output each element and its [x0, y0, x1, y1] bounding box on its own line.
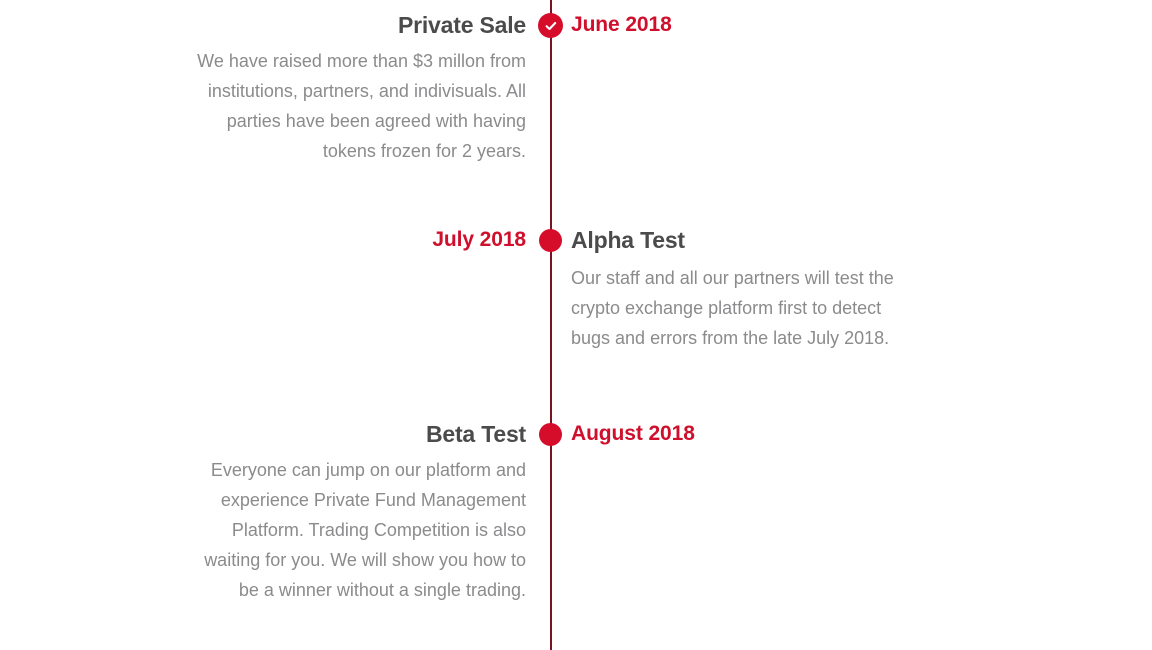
timeline-entry-alpha-test: July 2018 Alpha Test Our staff and all o… [0, 223, 1152, 259]
timeline-entry-date-wrap: August 2018 [571, 417, 903, 451]
timeline-entry-body-wrap: Our staff and all our partners will test… [571, 263, 903, 353]
dot-icon[interactable] [539, 229, 562, 252]
timeline-spine [550, 0, 552, 650]
timeline-entry-header: July 2018 Alpha Test [0, 223, 1152, 259]
check-circle-icon[interactable] [538, 13, 563, 38]
timeline-entry-title-wrap: Private Sale [182, 8, 526, 42]
timeline-entry-header: Beta Test August 2018 [0, 417, 1152, 453]
timeline-entry-body: Everyone can jump on our platform and ex… [182, 455, 526, 605]
timeline-entry-title-wrap: Alpha Test [571, 223, 903, 257]
timeline-entry-title: Private Sale [182, 8, 526, 42]
timeline-entry-date-wrap: June 2018 [571, 8, 903, 42]
timeline-entry-title-wrap: Beta Test [182, 417, 526, 451]
timeline-entry-private-sale: Private Sale June 2018 We have raised mo… [0, 8, 1152, 44]
timeline-entry-header: Private Sale June 2018 [0, 8, 1152, 44]
timeline-entry-body-wrap: We have raised more than $3 millon from … [182, 46, 526, 166]
timeline-entry-body: Our staff and all our partners will test… [571, 263, 903, 353]
timeline-entry-title: Alpha Test [571, 223, 903, 257]
timeline-entry-date-wrap: July 2018 [182, 223, 526, 257]
roadmap-timeline: Private Sale June 2018 We have raised mo… [0, 0, 1152, 650]
timeline-entry-body-wrap: Everyone can jump on our platform and ex… [182, 455, 526, 605]
timeline-entry-date: July 2018 [182, 223, 526, 257]
dot-icon[interactable] [539, 423, 562, 446]
timeline-entry-beta-test: Beta Test August 2018 Everyone can jump … [0, 417, 1152, 453]
timeline-entry-date: August 2018 [571, 417, 903, 451]
timeline-entry-body: We have raised more than $3 millon from … [182, 46, 526, 166]
timeline-entry-date: June 2018 [571, 8, 903, 42]
timeline-entry-title: Beta Test [182, 417, 526, 451]
